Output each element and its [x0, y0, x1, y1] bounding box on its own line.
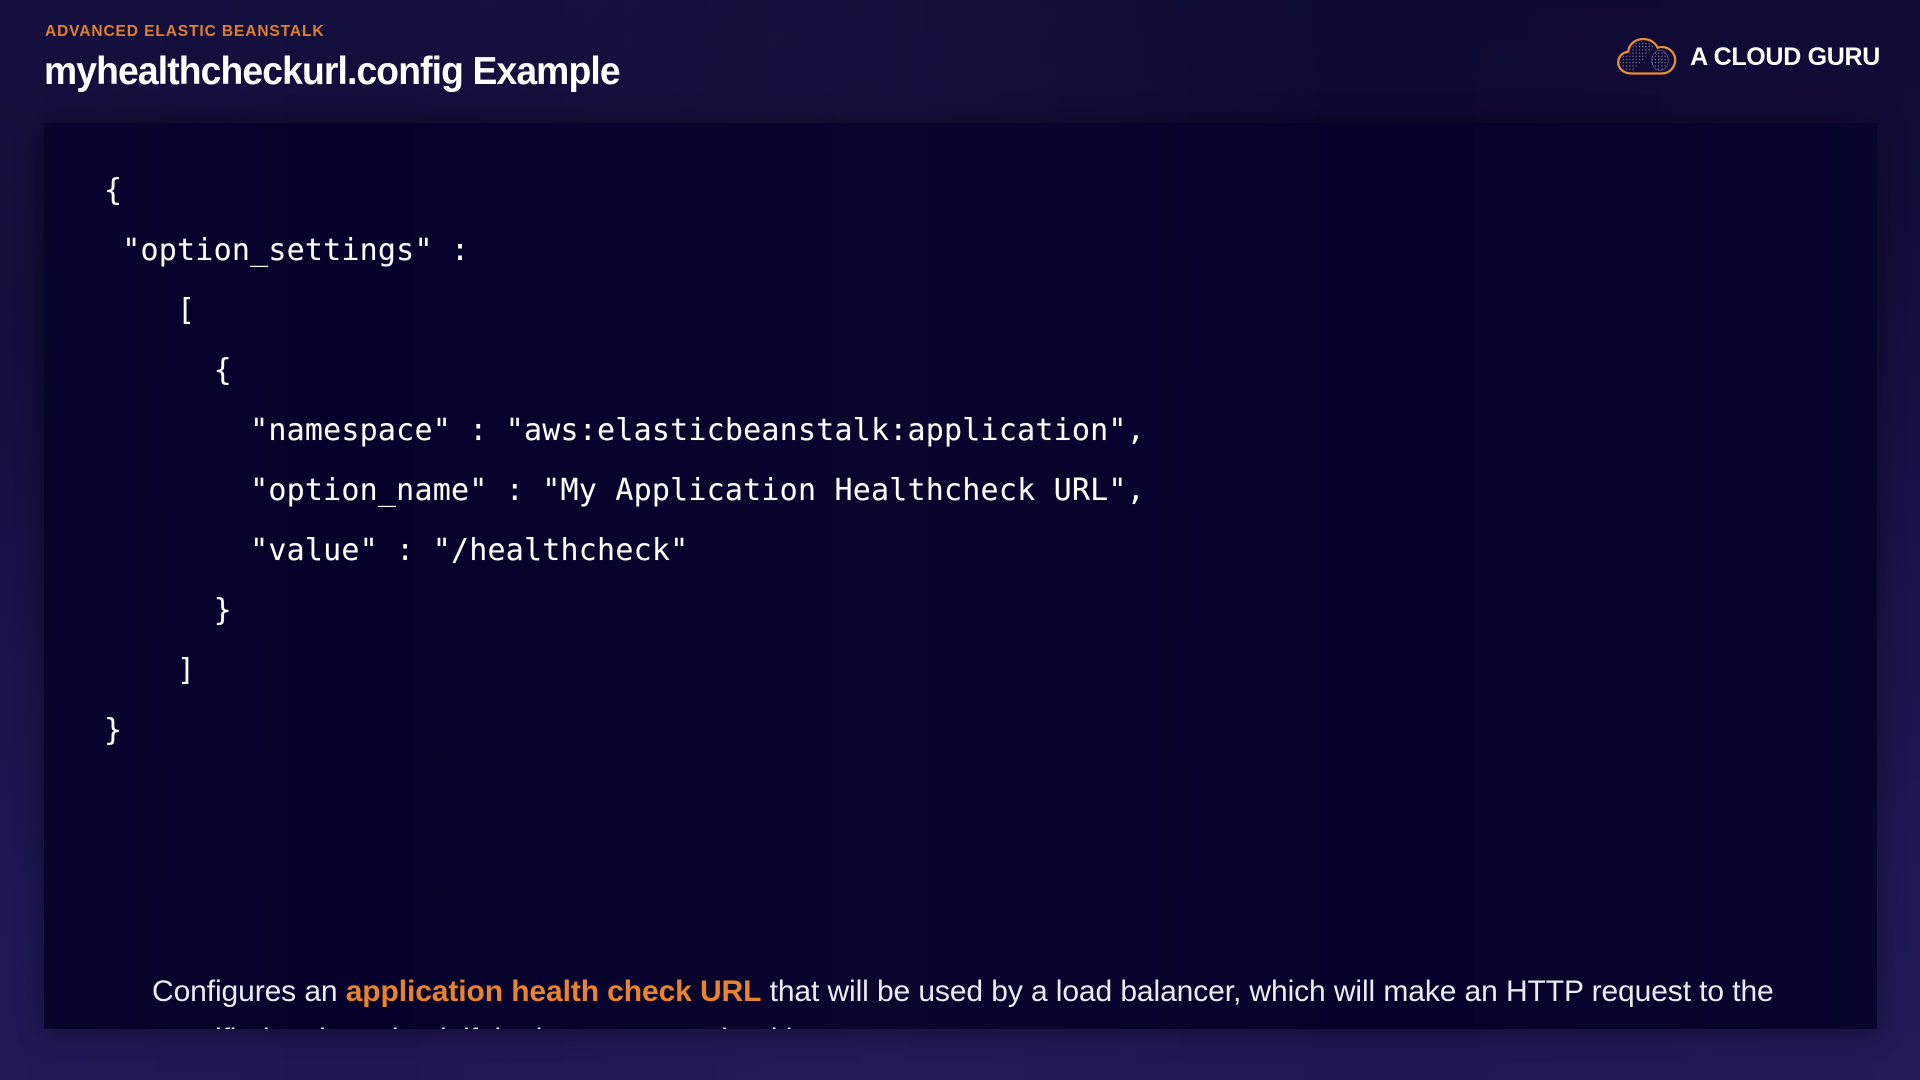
caption-text: Configures an application health check U… [152, 968, 1832, 1029]
code-snippet: { "option_settings" : [ { "namespace" : … [104, 161, 1145, 761]
caption-highlight: application health check URL [346, 975, 762, 1008]
code-line: { [104, 161, 1145, 221]
code-line: { [104, 341, 1145, 401]
code-line: "value" : "/healthcheck" [104, 521, 1145, 581]
slide-canvas: ADVANCED ELASTIC BEANSTALK myhealthcheck… [0, 0, 1920, 1080]
code-line: ] [104, 641, 1145, 701]
code-line: [ [104, 281, 1145, 341]
code-line: "option_name" : "My Application Healthch… [104, 461, 1145, 521]
brand-logo: A CLOUD GURU [1616, 33, 1880, 81]
page-title: myhealthcheckurl.config Example [44, 50, 620, 94]
slide-header: ADVANCED ELASTIC BEANSTALK myhealthcheck… [0, 0, 1920, 120]
brand-name-label: A CLOUD GURU [1690, 43, 1880, 72]
code-panel: { "option_settings" : [ { "namespace" : … [44, 123, 1877, 1029]
code-line: "option_settings" : [104, 221, 1145, 281]
code-line: "namespace" : "aws:elasticbeanstalk:appl… [104, 401, 1145, 461]
code-line: } [104, 701, 1145, 761]
caption-before: Configures an [152, 975, 346, 1008]
cloud-icon [1616, 36, 1678, 78]
code-line: } [104, 581, 1145, 641]
course-eyebrow-label: ADVANCED ELASTIC BEANSTALK [45, 23, 324, 41]
